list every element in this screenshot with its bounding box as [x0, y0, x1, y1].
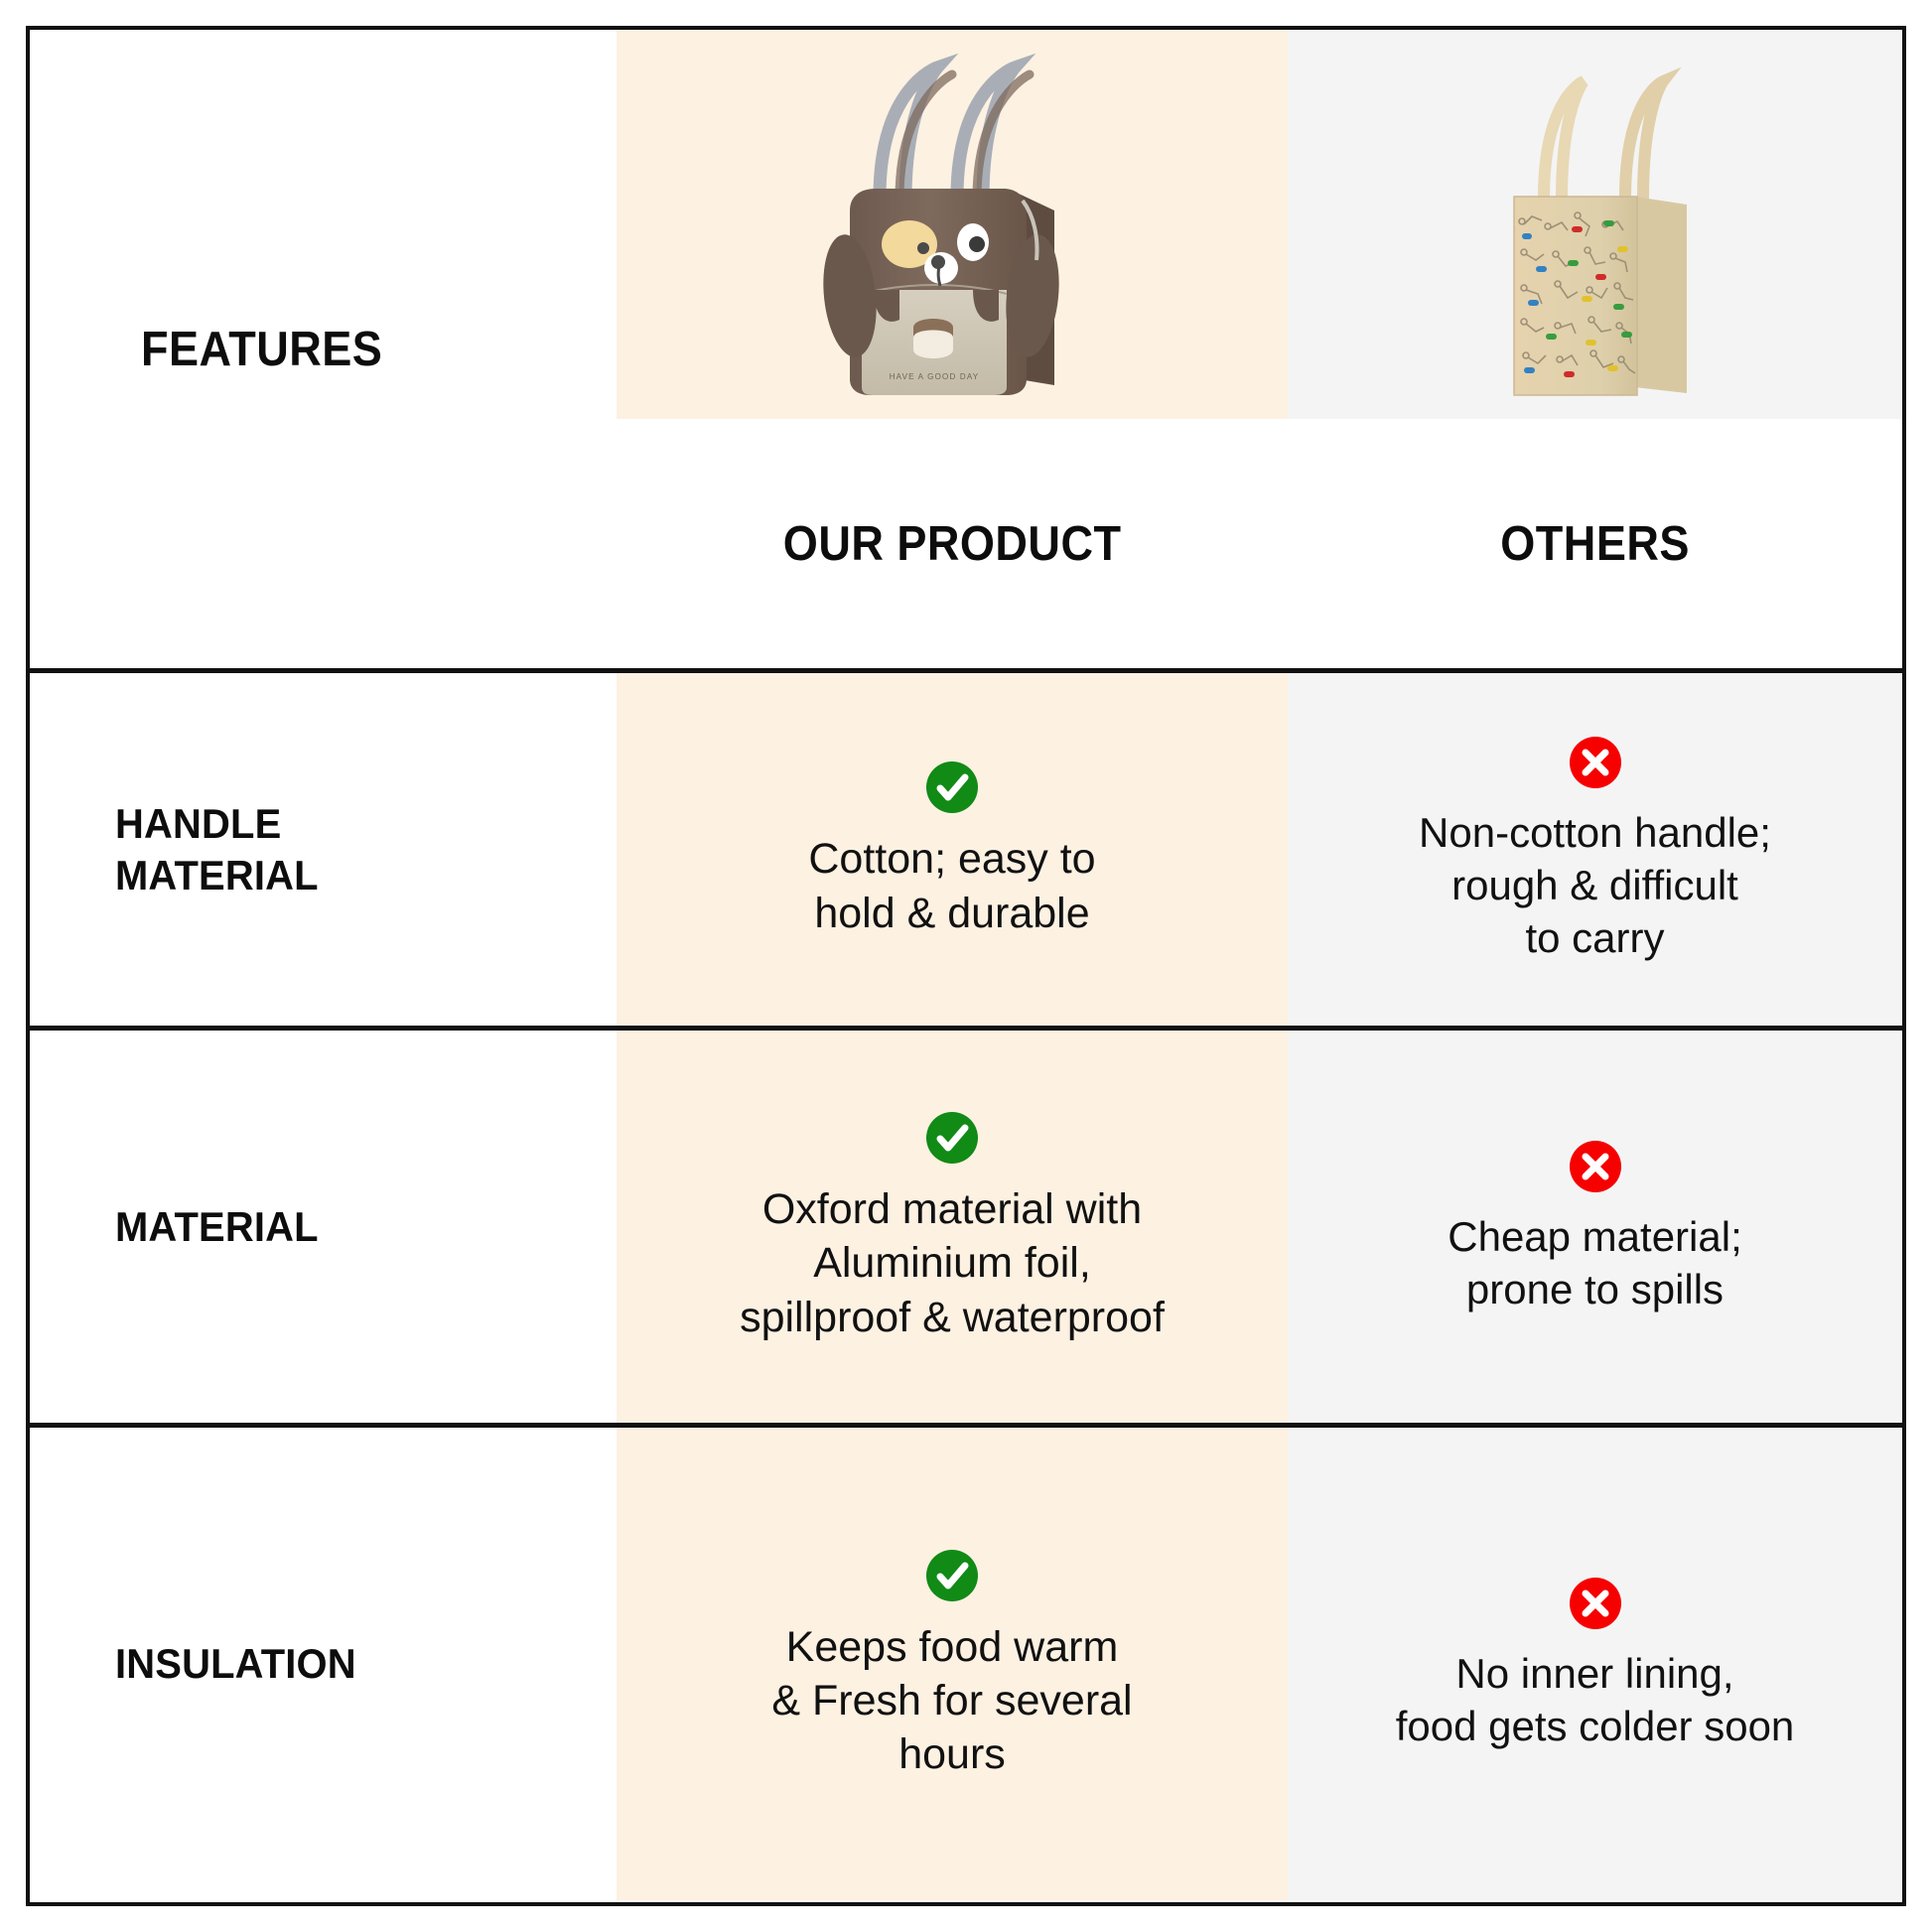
table-header-row: FEATURES	[30, 30, 1902, 673]
value-text-others-material: Cheap material; prone to spills	[1448, 1211, 1741, 1316]
value-text-ours-insulation: Keeps food warm & Fresh for several hour…	[771, 1620, 1132, 1782]
header-cell-features: FEATURES	[30, 30, 617, 668]
features-title-wrap: FEATURES	[30, 419, 617, 668]
our-product-image-panel: HAVE A GOOD DAY	[617, 30, 1288, 419]
value-text-others-insulation: No inner lining, food gets colder soon	[1396, 1648, 1795, 1753]
feature-cell-material: MATERIAL	[30, 1031, 617, 1423]
value-text-ours-material: Oxford material with Aluminium foil, spi…	[740, 1182, 1165, 1344]
product-comparison-table: FEATURES	[26, 26, 1906, 1906]
others-bag-image	[1476, 30, 1715, 419]
value-cell-others-insulation: No inner lining, food gets colder soon	[1288, 1428, 1902, 1900]
column-title-our-product: OUR PRODUCT	[783, 516, 1122, 572]
header-cell-our-product: HAVE A GOOD DAY OUR PRODUCT	[617, 30, 1288, 668]
table-row-insulation: INSULATION Keeps food warm & Fresh for s…	[30, 1428, 1902, 1900]
table-row-material: MATERIAL Oxford material with Aluminium …	[30, 1031, 1902, 1428]
our-product-bag-image: HAVE A GOOD DAY	[788, 30, 1116, 419]
check-circle-icon	[923, 1109, 981, 1167]
feature-cell-insulation: INSULATION	[30, 1428, 617, 1900]
feature-cell-handle-material: HANDLE MATERIAL	[30, 673, 617, 1026]
check-circle-icon	[923, 759, 981, 816]
feature-label-handle-material: HANDLE MATERIAL	[115, 798, 319, 899]
feature-label-material: MATERIAL	[115, 1201, 319, 1252]
others-title-wrap: OTHERS	[1288, 419, 1902, 668]
cross-circle-icon	[1567, 734, 1624, 791]
value-text-ours-handle-material: Cotton; easy to hold & durable	[808, 832, 1095, 939]
bag-printed-text: HAVE A GOOD DAY	[890, 372, 980, 381]
value-cell-ours-insulation: Keeps food warm & Fresh for several hour…	[617, 1428, 1288, 1900]
value-cell-ours-handle-material: Cotton; easy to hold & durable	[617, 673, 1288, 1026]
others-image-panel	[1288, 30, 1902, 419]
table-row-handle-material: HANDLE MATERIAL Cotton; easy to hold & d…	[30, 673, 1902, 1031]
our-product-title-wrap: OUR PRODUCT	[617, 419, 1288, 668]
value-cell-others-handle-material: Non-cotton handle; rough & difficult to …	[1288, 673, 1902, 1026]
feature-label-insulation: INSULATION	[115, 1638, 356, 1689]
value-cell-others-material: Cheap material; prone to spills	[1288, 1031, 1902, 1423]
cross-circle-icon	[1567, 1575, 1624, 1632]
header-cell-others: OTHERS	[1288, 30, 1902, 668]
cross-circle-icon	[1567, 1138, 1624, 1195]
value-text-others-handle-material: Non-cotton handle; rough & difficult to …	[1419, 807, 1771, 965]
column-title-features: FEATURES	[141, 30, 382, 668]
column-title-others: OTHERS	[1500, 516, 1690, 572]
check-circle-icon	[923, 1547, 981, 1604]
value-cell-ours-material: Oxford material with Aluminium foil, spi…	[617, 1031, 1288, 1423]
